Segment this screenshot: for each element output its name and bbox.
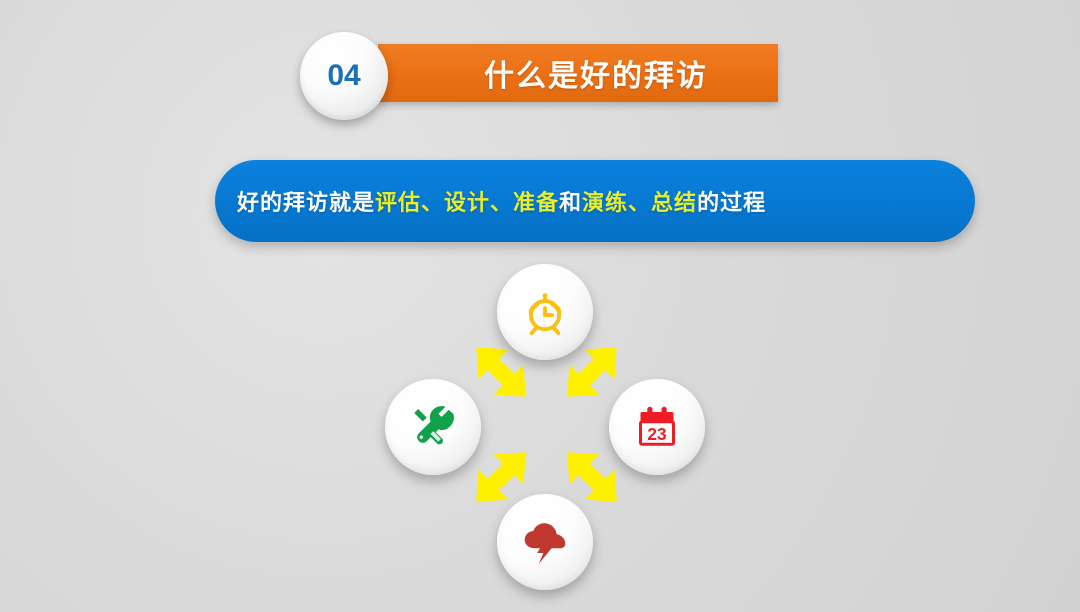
summary-banner-text: 好的拜访就是评估、设计、准备和演练、总结的过程 [215, 185, 766, 217]
alarm-clock-icon [520, 287, 570, 337]
wrench-screwdriver-icon [408, 402, 458, 452]
header-title-bar: 什么是好的拜访 [378, 44, 778, 102]
diagram-node-right[interactable]: 23 [609, 379, 705, 475]
diagram-node-bottom[interactable] [497, 494, 593, 590]
thunderstorm-cloud-icon [520, 517, 570, 567]
section-number-label: 04 [327, 59, 360, 93]
banner-segment-1: 评估、设计、准备 [375, 190, 559, 215]
section-number-badge: 04 [300, 32, 388, 120]
calendar-day-number: 23 [647, 424, 666, 444]
slide-canvas: 什么是好的拜访 04 好的拜访就是评估、设计、准备和演练、总结的过程 [0, 0, 1080, 612]
calendar-icon: 23 [633, 403, 681, 451]
banner-segment-3: 演练、总结 [582, 190, 697, 215]
banner-segment-4: 的过程 [697, 190, 766, 215]
banner-segment-2: 和 [559, 190, 582, 215]
banner-segment-0: 好的拜访就是 [237, 190, 375, 215]
cycle-diagram: 23 [370, 255, 720, 605]
section-header: 什么是好的拜访 04 [300, 32, 790, 130]
page-title: 什么是好的拜访 [436, 51, 720, 95]
diagram-node-left[interactable] [385, 379, 481, 475]
diagram-node-top[interactable] [497, 264, 593, 360]
summary-banner: 好的拜访就是评估、设计、准备和演练、总结的过程 [215, 160, 975, 242]
